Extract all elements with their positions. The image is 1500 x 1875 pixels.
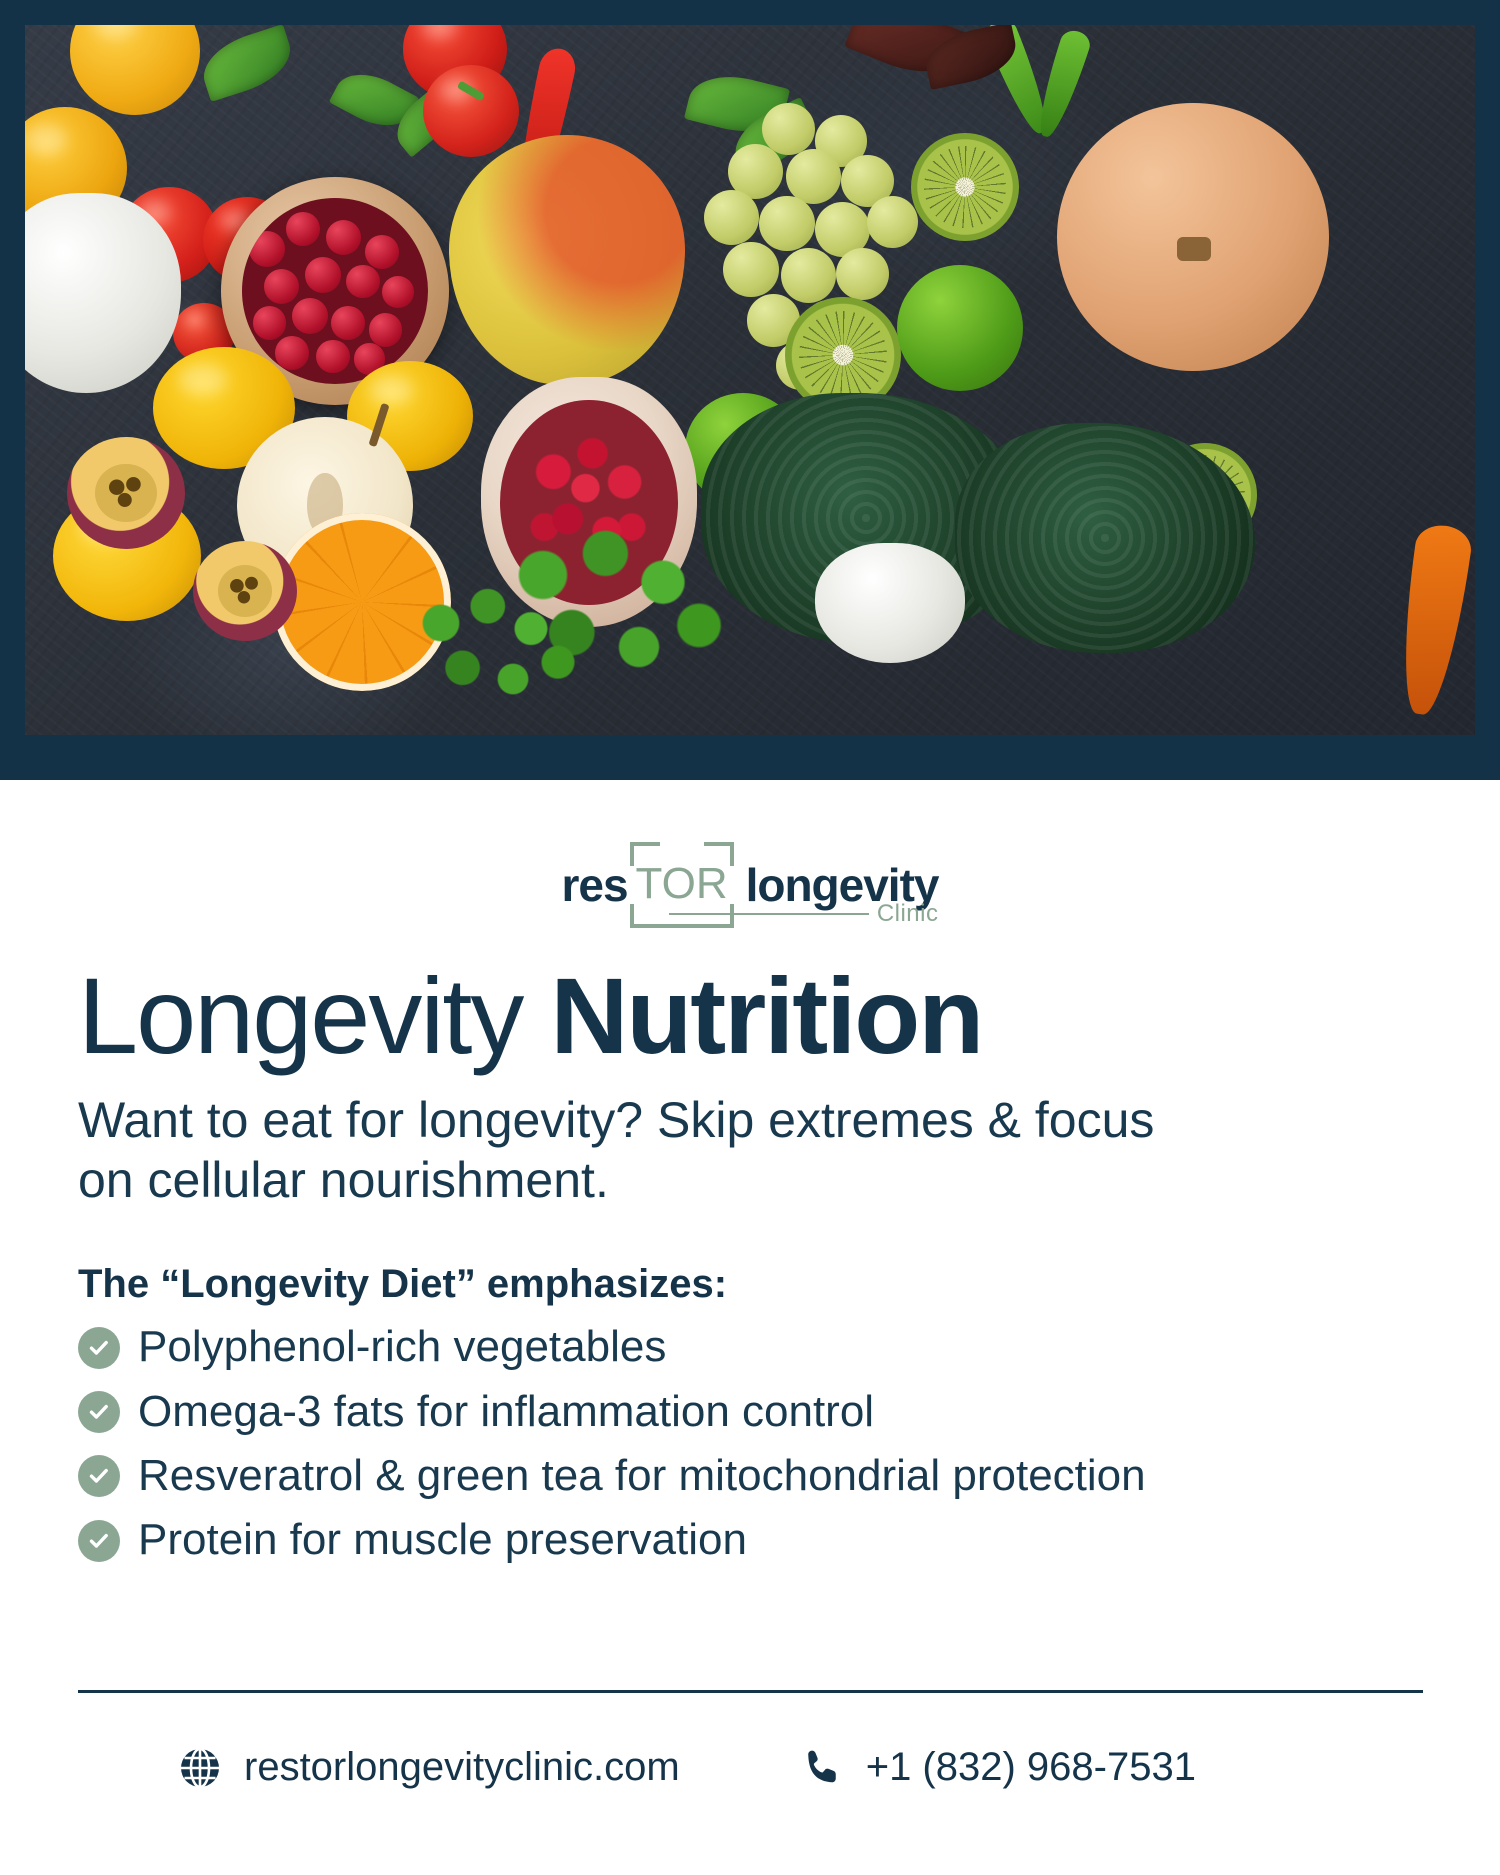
check-circle-icon	[78, 1520, 120, 1562]
check-circle-icon	[78, 1391, 120, 1433]
website-contact[interactable]: restorlongevityclinic.com	[178, 1745, 680, 1790]
list-item: Protein for muscle preservation	[78, 1516, 1428, 1564]
bracket-top-left	[630, 842, 660, 846]
brand-logo: res TOR longevity Clinic	[0, 842, 1500, 928]
footer: restorlongevityclinic.com +1 (832) 968-7…	[78, 1745, 1428, 1790]
logo-tagline-group: Clinic	[669, 900, 939, 928]
benefits-list: Polyphenol-rich vegetables Omega-3 fats …	[78, 1323, 1428, 1565]
passion-fruit	[67, 437, 185, 549]
hero-frame	[0, 0, 1500, 780]
bracket-left	[630, 842, 634, 866]
bracket-bottom-left	[630, 904, 634, 928]
parsley	[405, 581, 585, 721]
kiwi-half	[911, 133, 1019, 241]
logo-rule	[669, 913, 869, 915]
cranberries	[242, 198, 429, 385]
logo-text-res: res	[561, 862, 627, 908]
bracket-right	[730, 842, 734, 866]
lime	[897, 265, 1023, 391]
website-label: restorlongevityclinic.com	[244, 1745, 680, 1790]
subheadline: Want to eat for longevity? Skip extremes…	[78, 1090, 1218, 1210]
headline-bold: Nutrition	[550, 955, 982, 1076]
cauliflower	[815, 543, 965, 663]
footer-divider	[78, 1690, 1423, 1693]
list-item: Resveratrol & green tea for mitochondria…	[78, 1452, 1428, 1500]
headline-light: Longevity	[78, 955, 522, 1076]
mango	[449, 135, 685, 385]
list-item-label: Protein for muscle preservation	[138, 1516, 747, 1564]
page-title: Longevity Nutrition	[78, 960, 1428, 1072]
list-item: Omega-3 fats for inflammation control	[78, 1388, 1428, 1436]
globe-icon	[178, 1746, 222, 1790]
list-item-label: Resveratrol & green tea for mitochondria…	[138, 1452, 1146, 1500]
list-item-label: Polyphenol-rich vegetables	[138, 1323, 666, 1371]
list-item-label: Omega-3 fats for inflammation control	[138, 1388, 874, 1436]
hero-photo	[25, 25, 1475, 735]
pumpkin-stem	[1177, 237, 1211, 261]
phone-label: +1 (832) 968-7531	[866, 1745, 1196, 1790]
list-heading: The “Longevity Diet” emphasizes:	[78, 1262, 1428, 1307]
phone-icon	[800, 1746, 844, 1790]
phone-contact[interactable]: +1 (832) 968-7531	[800, 1745, 1196, 1790]
red-tomato	[423, 65, 519, 157]
check-circle-icon	[78, 1327, 120, 1369]
list-item: Polyphenol-rich vegetables	[78, 1323, 1428, 1371]
logo-text-clinic: Clinic	[877, 900, 939, 928]
passion-fruit	[193, 541, 297, 641]
content-area: Longevity Nutrition Want to eat for long…	[78, 960, 1428, 1581]
check-circle-icon	[78, 1455, 120, 1497]
